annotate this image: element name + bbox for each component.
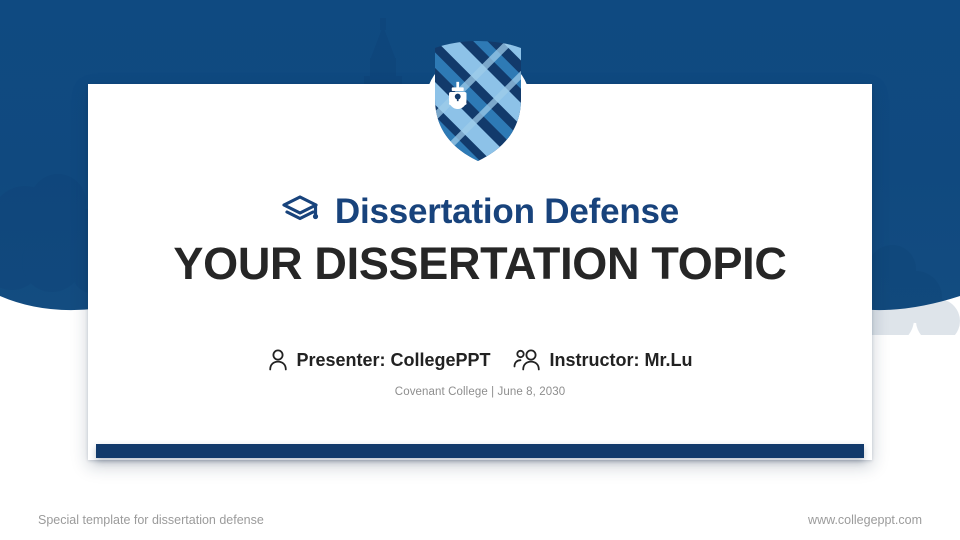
- presentation-slide: Dissertation Defense YOUR DISSERTATION T…: [0, 0, 960, 540]
- presenter-label: Presenter: CollegePPT: [296, 350, 490, 371]
- footer-right-url[interactable]: www.collegeppt.com: [808, 513, 922, 527]
- subject-heading-row: Dissertation Defense: [88, 193, 872, 229]
- graduation-cap-icon: [281, 193, 321, 229]
- people-group-icon: [513, 348, 543, 372]
- university-crest-icon: [425, 33, 531, 168]
- presenter-block: Presenter: CollegePPT: [267, 348, 490, 372]
- person-icon: [267, 348, 289, 372]
- footer-left-text: Special template for dissertation defens…: [38, 513, 264, 527]
- college-date-meta: Covenant College | June 8, 2030: [88, 386, 872, 398]
- page-title: YOUR DISSERTATION TOPIC: [88, 236, 872, 292]
- instructor-label: Instructor: Mr.Lu: [550, 350, 693, 371]
- subject-title: Dissertation Defense: [335, 194, 679, 229]
- instructor-block: Instructor: Mr.Lu: [513, 348, 693, 372]
- credits-row: Presenter: CollegePPT Instructor: Mr.Lu: [88, 348, 872, 372]
